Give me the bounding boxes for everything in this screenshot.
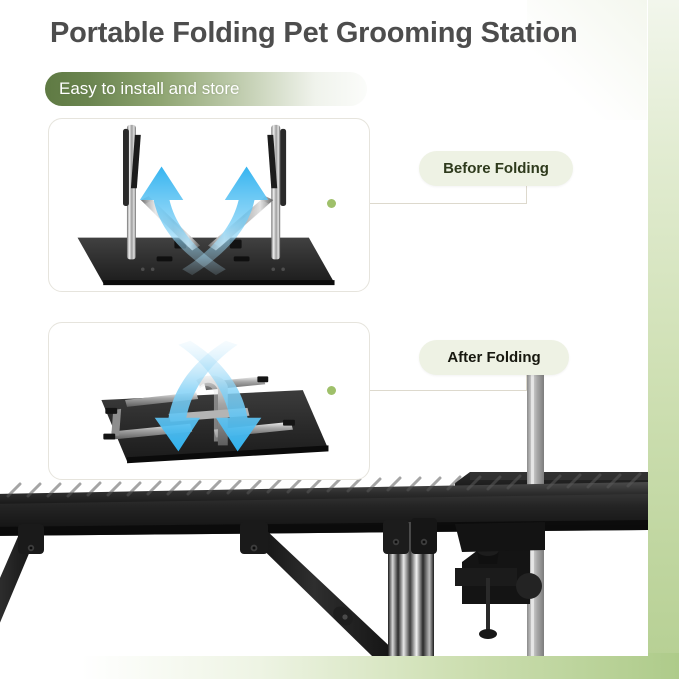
callout-before-label: Before Folding xyxy=(443,160,549,177)
leader-riser-after xyxy=(526,375,527,391)
card-after-folding xyxy=(48,322,370,480)
callout-after-folding: After Folding xyxy=(419,340,569,375)
feature-badge: Easy to install and store xyxy=(45,72,367,106)
callout-before-folding: Before Folding xyxy=(419,151,573,186)
callout-after-label: After Folding xyxy=(447,349,540,366)
page-title: Portable Folding Pet Grooming Station xyxy=(50,17,578,50)
folding-legs xyxy=(0,518,437,656)
tabletop xyxy=(0,474,648,536)
table-apron xyxy=(455,522,545,552)
clamp-screw xyxy=(486,578,490,636)
product-infographic: Portable Folding Pet Grooming Station Ea… xyxy=(0,0,679,679)
feature-badge-label: Easy to install and store xyxy=(45,79,239,99)
right-edge-gradient xyxy=(647,0,679,679)
bottom-edge-gradient xyxy=(0,653,679,679)
card-before-folding xyxy=(48,118,370,292)
leader-riser-before xyxy=(526,186,527,204)
leader-dot-before xyxy=(327,199,336,208)
leader-dot-after xyxy=(327,386,336,395)
